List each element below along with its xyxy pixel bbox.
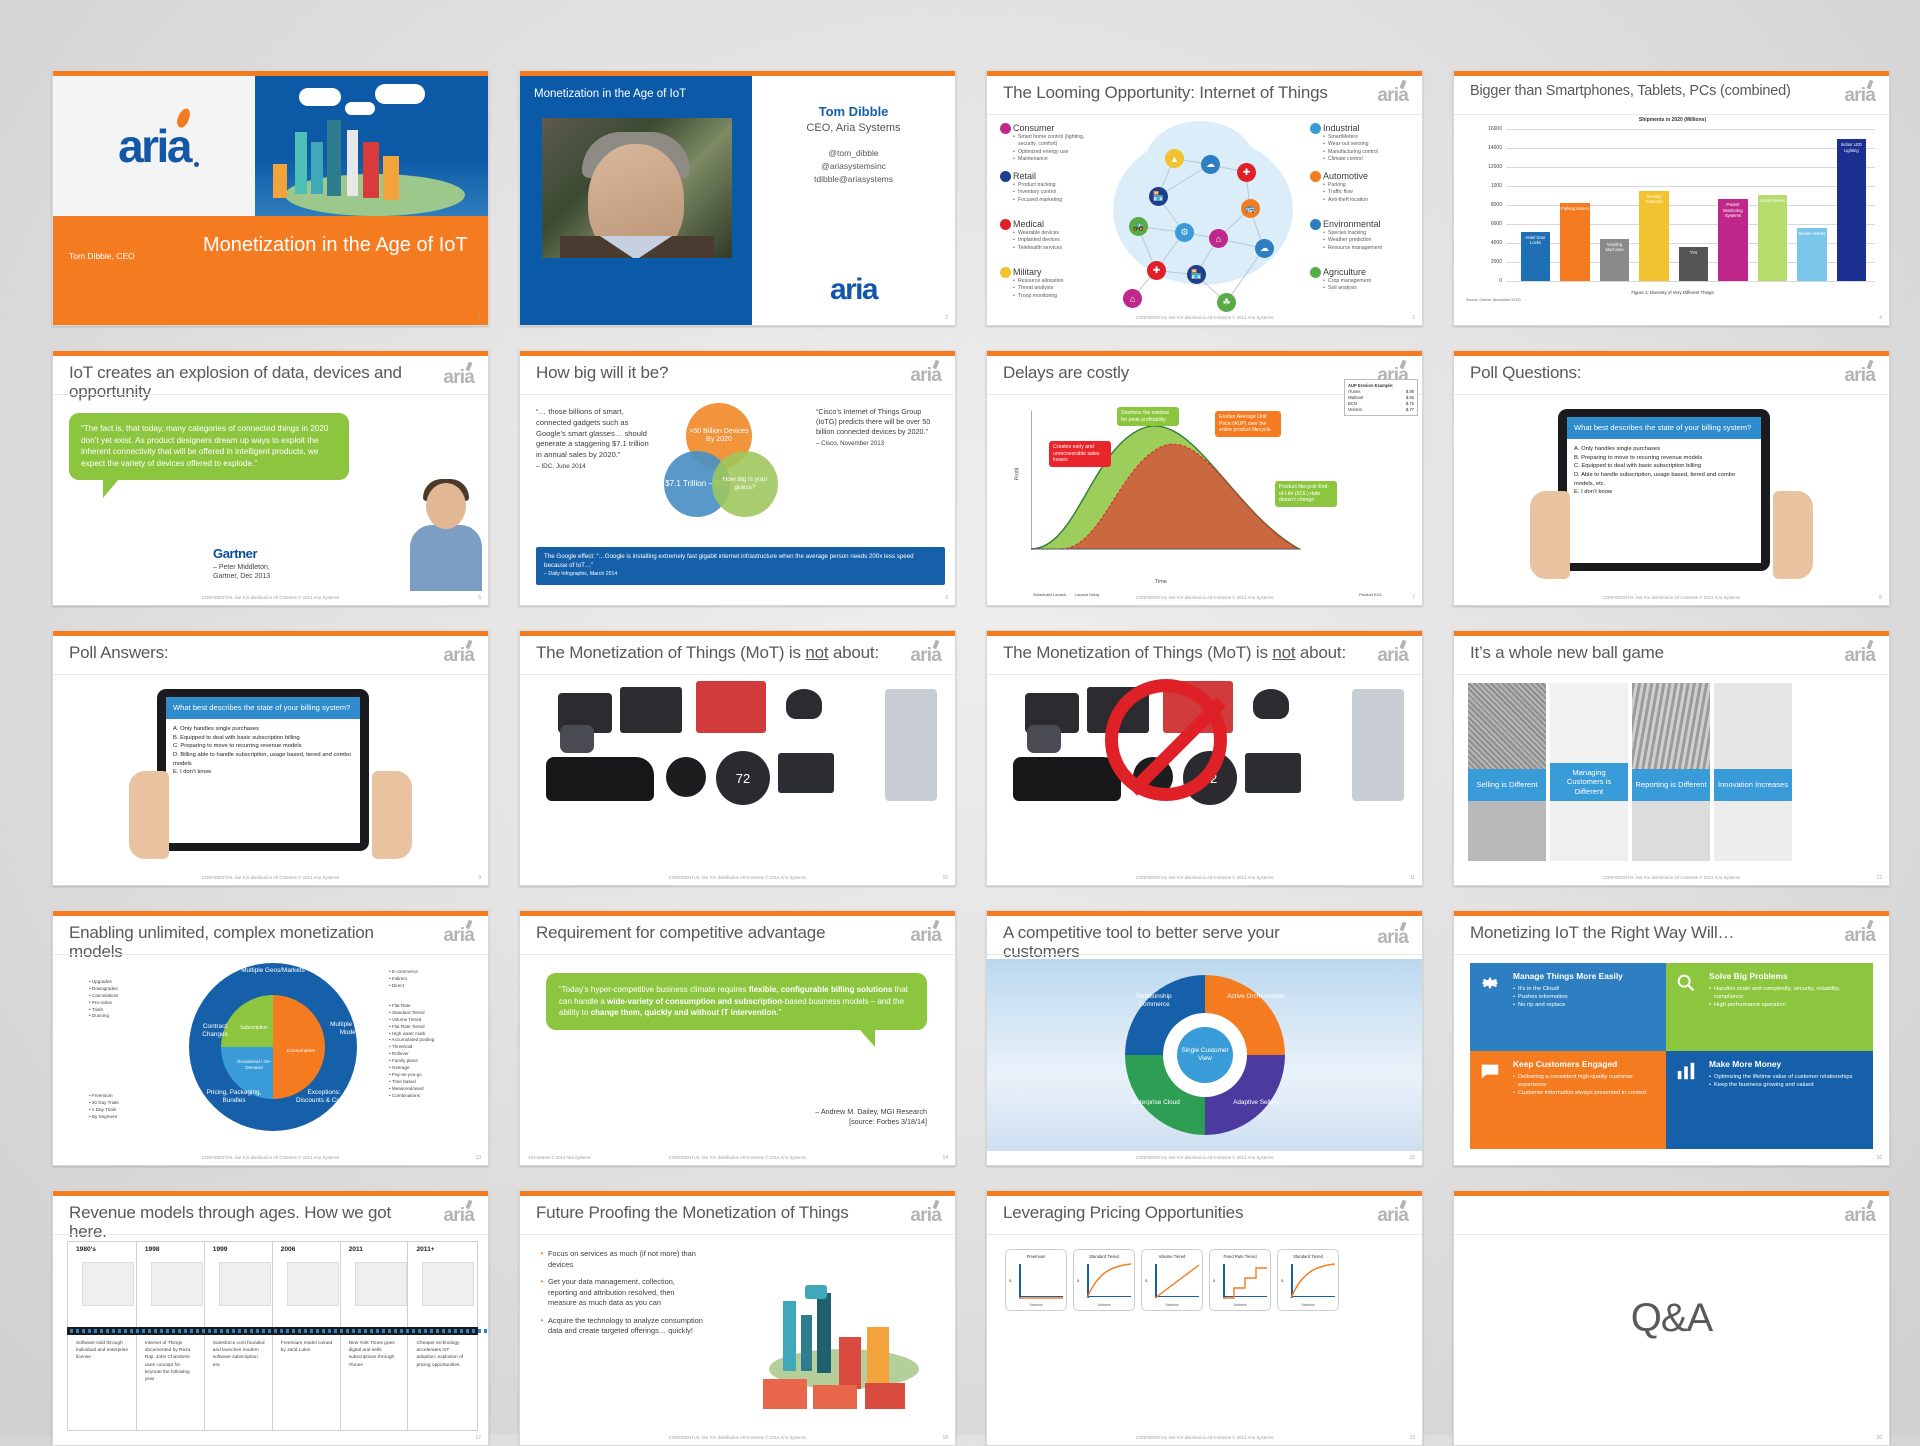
timeline-dash xyxy=(478,1329,481,1333)
category-item: Telehealth services xyxy=(1013,245,1089,252)
category-item: SmartMeters xyxy=(1323,134,1415,141)
banner-text: The Google effect: “…Google is installin… xyxy=(544,553,914,569)
poll-option[interactable]: B. Equipped to deal with basic subscript… xyxy=(173,734,353,743)
slide-thumbnail-15[interactable]: A competitive tool to better serve your … xyxy=(986,910,1423,1166)
slide-thumbnail-5[interactable]: IoT creates an explosion of data, device… xyxy=(52,350,489,606)
poll-option[interactable]: A. Only handles single purchases xyxy=(1574,445,1754,454)
x-axis-label: Volume xyxy=(1278,1302,1338,1307)
timeline-column: 1998Internet of Things documented by Rez… xyxy=(136,1242,204,1430)
tile-selling: Selling is Different xyxy=(1468,769,1546,801)
bullet-item: Focus on services as much (if not more) … xyxy=(540,1249,704,1270)
slide-thumbnail-20[interactable]: aria Q&A 20 xyxy=(1453,1190,1890,1446)
page-number: 13 xyxy=(475,1155,481,1161)
accent-bar xyxy=(53,911,488,916)
person-photo xyxy=(410,479,482,591)
list-item: Rollover xyxy=(389,1051,461,1058)
slide-thumbnail-4[interactable]: Bigger than Smartphones, Tablets, PCs (c… xyxy=(1453,70,1890,326)
aup-row: Verizon$.77 xyxy=(1348,407,1414,413)
timeline-dash xyxy=(268,1329,271,1333)
timeline-dash xyxy=(250,1329,253,1333)
slide-title: Future Proofing the Monetization of Thin… xyxy=(536,1203,885,1222)
cisco-quote-cite: – Cisco, November 2013 xyxy=(816,440,884,447)
slide-title: Leveraging Pricing Opportunities xyxy=(1003,1203,1352,1222)
google-effect-banner: The Google effect: “…Google is installin… xyxy=(536,547,945,585)
timeline-dash xyxy=(484,1329,487,1333)
aup-vendor: Verizon xyxy=(1348,407,1362,413)
bar-label: Parking Meters xyxy=(1560,206,1590,211)
pricing-chart-standard-tiered: Standard Tiered$Volume xyxy=(1277,1249,1339,1311)
timeline-dash xyxy=(190,1329,193,1333)
slide-title: Monetization in the Age of IoT xyxy=(534,88,686,100)
timeline-dash xyxy=(208,1329,211,1333)
medical-icon xyxy=(1000,219,1011,230)
timeline-dash xyxy=(340,1329,343,1333)
timeline-dash xyxy=(118,1329,121,1333)
category-label: Medical xyxy=(1013,219,1089,229)
slide-thumbnail-7[interactable]: Delays are costly aria Profit Time Short… xyxy=(986,350,1423,606)
gridline: 0 xyxy=(1506,281,1875,282)
list-item: Time based xyxy=(389,1079,461,1086)
confidential-footer: CONFIDENTIAL Not For distribution All Co… xyxy=(987,315,1422,320)
bar-hotel-door-locks: Hotel Door Locks xyxy=(1521,232,1551,281)
timeline-text: Cheaper technology accelerates IoT adopt… xyxy=(416,1340,469,1369)
poll-option[interactable]: C. Preparing to move to recurring revenu… xyxy=(173,742,353,751)
timeline-dash xyxy=(448,1329,451,1333)
list-sales-channels: E-commerceIndirectDirect xyxy=(389,969,455,990)
page-number: 5 xyxy=(478,595,481,601)
node-home2-icon: ⌂ xyxy=(1123,289,1142,308)
timeline-text: Salesforce.com founded and launches mode… xyxy=(213,1340,266,1369)
quote-text: “Today’s hyper-competitive business clim… xyxy=(559,985,908,1017)
page-number: 1 xyxy=(478,315,481,321)
category-item: Climate control xyxy=(1323,156,1415,163)
confidential-footer: CONFIDENTIAL Not For distribution All Co… xyxy=(987,875,1422,880)
tile-innovation: Innovation Increases xyxy=(1714,769,1792,801)
category-item: Parking xyxy=(1323,182,1415,189)
category-item: Traffic flow xyxy=(1323,189,1415,196)
poll-option[interactable]: C. Equipped to deal with basic subscript… xyxy=(1574,462,1754,471)
x-axis-label: Volume xyxy=(1210,1302,1270,1307)
slide-thumbnail-10[interactable]: The Monetization of Things (MoT) is not … xyxy=(519,630,956,886)
crowd-photo xyxy=(1468,683,1546,769)
list-item: Upgrades xyxy=(89,979,155,986)
timeline-dash xyxy=(394,1329,397,1333)
slide-thumbnail-8[interactable]: Poll Questions: aria What best describes… xyxy=(1453,350,1890,606)
slide-title: The Monetization of Things (MoT) is not … xyxy=(536,643,885,662)
suv-device xyxy=(546,757,654,801)
quadrant-item: No rip and replace xyxy=(1513,1001,1657,1009)
poll-option[interactable]: D. Billing able to handle subscription, … xyxy=(173,751,353,768)
accent-bar xyxy=(53,351,488,356)
timeline-dash xyxy=(82,1329,85,1333)
slide-thumbnail-13[interactable]: Enabling unlimited, complex monetization… xyxy=(52,910,489,1166)
accent-bar xyxy=(987,911,1422,916)
timeline-dash xyxy=(382,1329,385,1333)
node-home-icon: ⌂ xyxy=(1209,229,1228,248)
list-item: Standard Tiered xyxy=(389,1010,461,1017)
title-emphasis: not xyxy=(1272,643,1295,662)
list-item: Dunning xyxy=(89,1013,155,1020)
page-number: 4 xyxy=(1879,315,1882,321)
slide-title: It’s a whole new ball game xyxy=(1470,643,1819,662)
quote-emphasis: change them, quickly and without IT inte… xyxy=(591,1008,779,1017)
list-item: Freemium xyxy=(89,1093,155,1100)
node-store-icon: 🏪 xyxy=(1149,187,1168,206)
quadrant-item: Handles scale and complexity, security, … xyxy=(1709,985,1864,1001)
title-pre: The Monetization of Things (MoT) is xyxy=(536,643,805,662)
page-number: 17 xyxy=(475,1435,481,1441)
slide-thumbnail-16[interactable]: Monetizing IoT the Right Way Will… aria … xyxy=(1453,910,1890,1166)
aria-logo: aria xyxy=(1844,85,1875,107)
y-axis-tick: 8000 xyxy=(1491,202,1502,208)
node-cloud2-icon: ☁ xyxy=(1255,239,1274,258)
company-handle: @ariasystemsinc xyxy=(752,161,955,171)
slide-thumbnail-3[interactable]: The Looming Opportunity: Internet of Thi… xyxy=(986,70,1423,326)
slide-title: IoT creates an explosion of data, device… xyxy=(69,363,418,401)
list-item: Direct xyxy=(389,983,455,990)
quadrant-solve-problems: Solve Big Problems Handles scale and com… xyxy=(1666,963,1873,1051)
poll-option[interactable]: D. Able to handle subscription, usage ba… xyxy=(1574,471,1754,488)
slide-thumbnail-17[interactable]: Revenue models through ages. How we got … xyxy=(52,1190,489,1446)
aria-wordmark: aria xyxy=(118,119,190,173)
quote-fragment: ” xyxy=(779,1008,782,1017)
iot-network-diagram: ☁ 🏪 🚌 ⚙ ⌂ ✚ ▲ 🚜 ☁ ✚ 🏪 ⌂ ☘ xyxy=(1105,121,1300,316)
accent-bar xyxy=(1454,351,1889,356)
retail-icon xyxy=(1000,171,1011,182)
category-label: Consumer xyxy=(1013,123,1089,133)
node-medical2-icon: ✚ xyxy=(1147,261,1166,280)
y-axis-label: $ xyxy=(1009,1278,1011,1283)
slide-title: Delays are costly xyxy=(1003,363,1352,382)
refrigerator-device xyxy=(885,689,937,801)
bar-vending-machines: Vending Machines xyxy=(1600,239,1630,281)
bar-smart-meters: Smart Meters xyxy=(1758,195,1788,281)
bar-label: TVs xyxy=(1679,250,1709,255)
timeline-dash xyxy=(316,1329,319,1333)
wheel-subscription: Subscription xyxy=(231,1025,277,1031)
segment-enterprise-cloud: Enterprise Cloud xyxy=(1127,1099,1185,1107)
list-item: Family plans xyxy=(389,1058,461,1065)
laptop2-device xyxy=(778,753,834,793)
poll-option[interactable]: B. Preparing to move to recurring revenu… xyxy=(1574,454,1754,463)
timeline-columns: 1980’sSoftware sold through individual a… xyxy=(67,1241,478,1431)
slide-thumbnail-9[interactable]: Poll Answers: aria What best describes t… xyxy=(52,630,489,886)
slide-thumbnail-2[interactable]: Monetization in the Age of IoT Tom Dibbl… xyxy=(519,70,956,326)
timeline-dash xyxy=(418,1329,421,1333)
page-number: 18 xyxy=(942,1435,948,1441)
timeline-dash xyxy=(172,1329,175,1333)
list-contract-changes: UpgradesDowngradesCancelationsPro-ration… xyxy=(89,979,155,1020)
slide-grid: aria Tom Dibble, CEO Monetization in the… xyxy=(52,70,1872,1370)
quadrant-item: Customer information always presented in… xyxy=(1513,1089,1657,1097)
aria-logo: aria xyxy=(443,645,474,667)
list-item: Accumulated pooling xyxy=(389,1037,461,1044)
accent-bar xyxy=(520,1191,955,1196)
timeline-dash xyxy=(130,1329,133,1333)
category-agriculture: AgricultureCrop managementSoil analysis xyxy=(1323,267,1415,293)
qa-text: Q&A xyxy=(1454,1191,1889,1445)
timeline-column: 2011+Cheaper technology accelerates IoT … xyxy=(407,1242,475,1430)
timeline-thumbnail xyxy=(355,1262,407,1306)
x-axis-label: Volume xyxy=(1074,1302,1134,1307)
timeline-thumbnail xyxy=(151,1262,203,1306)
category-item: Resource allocation xyxy=(1013,278,1089,285)
slide-title: The Looming Opportunity: Internet of Thi… xyxy=(1003,83,1352,102)
bulb2-photo xyxy=(1714,801,1792,861)
category-environmental: EnvironmentalSpecies trackingWeather pre… xyxy=(1323,219,1415,252)
accent-bar xyxy=(987,71,1422,76)
title-band: Tom Dibble, CEO Monetization in the Age … xyxy=(53,216,488,325)
list-item: 30 Day Trials xyxy=(89,1100,155,1107)
timeline-thumbnail xyxy=(219,1262,271,1306)
title-post: about: xyxy=(828,643,879,662)
confidential-footer: CONFIDENTIAL Not For distribution All Co… xyxy=(53,875,488,880)
timeline-text: New York Times goes digital and sells su… xyxy=(349,1340,402,1369)
title-post: about: xyxy=(1295,643,1346,662)
aria-logo: aria xyxy=(1377,85,1408,107)
node-medical-icon: ✚ xyxy=(1237,163,1256,182)
timeline-dash xyxy=(286,1329,289,1333)
cisco-quote-text: “Cisco’s Internet of Things Group (IoTG)… xyxy=(816,407,930,436)
category-item: Resource management xyxy=(1323,245,1415,252)
timeline-dash xyxy=(442,1329,445,1333)
y-axis-label: $ xyxy=(1213,1278,1215,1283)
node-meter-icon: ⚙ xyxy=(1175,223,1194,242)
accent-bar xyxy=(987,631,1422,636)
timeline-dash xyxy=(346,1329,349,1333)
accent-bar xyxy=(1454,71,1889,76)
accent-bar xyxy=(53,1191,488,1196)
pricing-chart-standard-tiered: Standard Tiered$Volume xyxy=(1073,1249,1135,1311)
timeline-bar xyxy=(67,1327,478,1335)
slide-title: A competitive tool to better serve your … xyxy=(1003,923,1352,961)
timeline-dash xyxy=(292,1329,295,1333)
aria-logo: aria xyxy=(443,1205,474,1227)
page-number: 12 xyxy=(1876,875,1882,881)
timeline-dash xyxy=(454,1329,457,1333)
wheel-geos: Multiple Geos/Markets xyxy=(239,967,307,975)
category-item: Crop management xyxy=(1323,278,1415,285)
node-store2-icon: 🏪 xyxy=(1187,265,1206,284)
list-item: Pay-as-you-go xyxy=(389,1072,461,1079)
category-label: Environmental xyxy=(1323,219,1415,229)
page-number: 15 xyxy=(1409,1155,1415,1161)
aup-price: $.77 xyxy=(1406,407,1414,413)
handshake-photo xyxy=(1468,801,1546,861)
y-axis-tick: 14000 xyxy=(1488,145,1502,151)
quote-fragment: “Today’s hyper-competitive business clim… xyxy=(559,985,749,994)
building-photo xyxy=(1632,683,1710,769)
monitor-device xyxy=(696,681,766,733)
category-item: Troop monitoring xyxy=(1013,293,1089,300)
node-bus-icon: 🚌 xyxy=(1241,199,1260,218)
speaker-photo xyxy=(542,118,732,258)
timeline-dash xyxy=(100,1329,103,1333)
timeline-dash xyxy=(304,1329,307,1333)
bar-security-cameras: Security Cameras xyxy=(1639,191,1669,281)
list-item: n Day Trials xyxy=(89,1107,155,1114)
timeline-dash xyxy=(274,1329,277,1333)
automotive-icon xyxy=(1310,171,1321,182)
node-leaf-icon: ☘ xyxy=(1217,293,1236,312)
wheel-occasional: Occasional / On-Demand xyxy=(231,1059,277,1070)
pricing-chart-freemium: Freemium$Volume xyxy=(1005,1249,1067,1311)
tablet-screen: What best describes the state of your bi… xyxy=(166,697,360,843)
tile-managing: Managing Customers is Different xyxy=(1550,763,1628,801)
left-hand xyxy=(1530,491,1570,579)
left-hand xyxy=(129,771,169,859)
future-proofing-bullets: Focus on services as much (if not more) … xyxy=(540,1249,704,1344)
tag-sales-losses: Creates early and unrecoverable sales lo… xyxy=(1049,441,1111,467)
wheel-consumption: Consumption xyxy=(277,1049,325,1055)
timeline-dash xyxy=(94,1329,97,1333)
iot-city-illustration xyxy=(255,76,488,216)
timeline-dash xyxy=(310,1329,313,1333)
list-item: Trials xyxy=(89,1007,155,1014)
category-label: Military xyxy=(1013,267,1089,277)
bar-label: Indoor LED Lighting xyxy=(1837,142,1867,153)
list-item: Combinations xyxy=(389,1093,461,1100)
aria-logo: aria xyxy=(1377,645,1408,667)
slide-title: Monetizing IoT the Right Way Will… xyxy=(1470,923,1819,942)
chart-caption: Figure 1: Diversity of Very Different Th… xyxy=(1464,290,1881,295)
list-item: By Segment xyxy=(89,1114,155,1121)
category-retail: RetailProduct trackingInventory controlF… xyxy=(1013,171,1089,204)
quadrant-title: Manage Things More Easily xyxy=(1513,971,1657,981)
bar-patient-monitoring-systems: Patient Monitoring Systems xyxy=(1718,199,1748,281)
quadrant-title: Solve Big Problems xyxy=(1709,971,1864,981)
speaker-photo-panel: Monetization in the Age of IoT xyxy=(520,76,752,325)
quote-attribution: – Andrew M. Dailey, MGI Research [source… xyxy=(767,1107,927,1127)
wheel-inner xyxy=(221,995,325,1099)
consumer-icon xyxy=(1000,123,1011,134)
y-axis-label: $ xyxy=(1281,1278,1283,1283)
category-label: Agriculture xyxy=(1323,267,1415,277)
bullet-item: Acquire the technology to analyze consum… xyxy=(540,1316,704,1337)
tile-reporting: Reporting is Different xyxy=(1632,769,1710,801)
quadrant-item: High performance operation xyxy=(1709,1001,1864,1009)
timeline-dash xyxy=(202,1329,205,1333)
timeline-dash xyxy=(214,1329,217,1333)
poll-option[interactable]: A. Only handles single purchases xyxy=(173,725,353,734)
banner-cite: – Daily Infographic, March 2014 xyxy=(544,571,617,577)
timeline-dash xyxy=(244,1329,247,1333)
aria-logo: aria xyxy=(1844,645,1875,667)
y-axis-tick: 12000 xyxy=(1488,164,1502,170)
segment-adaptive-selling: Adaptive Selling xyxy=(1227,1099,1285,1107)
list-pricing-models: Flat RateStandard TieredVolume TieredFla… xyxy=(389,1003,461,1099)
aria-logo: aria xyxy=(910,365,941,387)
category-label: Industrial xyxy=(1323,123,1415,133)
timeline-dash xyxy=(430,1329,433,1333)
tag-aup-erosion: Erodes Average Unit Price (AUP) over the… xyxy=(1215,411,1281,437)
x-axis-label: Volume xyxy=(1006,1302,1066,1307)
bullet-item: Get your data management, collection, re… xyxy=(540,1277,704,1309)
smartwatch-device xyxy=(1027,725,1061,753)
slide-title: Bigger than Smartphones, Tablets, PCs (c… xyxy=(1470,83,1819,99)
magnifier-icon xyxy=(1675,972,1697,994)
timeline-thumbnail xyxy=(82,1262,134,1306)
timeline-dash xyxy=(328,1329,331,1333)
category-automotive: AutomotiveParkingTraffic flowAnti-theft … xyxy=(1323,171,1415,204)
category-label: Automotive xyxy=(1323,171,1415,181)
aria-logo: aria xyxy=(910,1205,941,1227)
camera-device xyxy=(786,689,822,719)
slide-thumbnail-11[interactable]: The Monetization of Things (MoT) is not … xyxy=(986,630,1423,886)
category-item: Wearable devices xyxy=(1013,230,1089,237)
speaker-info-panel: Tom Dibble CEO, Aria Systems @tom_dibble… xyxy=(752,76,955,325)
category-item: Focused marketing xyxy=(1013,197,1089,204)
y-axis-tick: 4000 xyxy=(1491,240,1502,246)
timeline-dash xyxy=(106,1329,109,1333)
aria-logo: aria xyxy=(1844,925,1875,947)
timeline-dash xyxy=(136,1329,139,1333)
speech-icon xyxy=(1479,1060,1501,1082)
page-number: 16 xyxy=(1876,1155,1882,1161)
bulbs-photo xyxy=(1714,683,1792,769)
tag-eol-date: Product lifecycle End-of-Life (EOL) date… xyxy=(1275,481,1337,507)
quadrant-title: Make More Money xyxy=(1709,1059,1864,1069)
accent-bar xyxy=(520,631,955,636)
timeline-dash xyxy=(364,1329,367,1333)
list-item: Downgrades xyxy=(89,986,155,993)
accent-bar xyxy=(987,351,1422,356)
timeline-dash xyxy=(88,1329,91,1333)
slide-thumbnail-14[interactable]: Requirement for competitive advantage ar… xyxy=(519,910,956,1166)
slide-thumbnail-18[interactable]: Future Proofing the Monetization of Thin… xyxy=(519,1190,956,1446)
x-axis-label: Volume xyxy=(1142,1302,1202,1307)
tire-device xyxy=(666,757,706,797)
poll-option[interactable]: E. I don’t know xyxy=(1574,488,1754,497)
timeline-dash xyxy=(436,1329,439,1333)
category-item: Wear-out sensing xyxy=(1323,141,1415,148)
slide-title: Enabling unlimited, complex monetization… xyxy=(69,923,418,961)
quadrant-item: Delivering a consistent high-quality cus… xyxy=(1513,1073,1657,1089)
timeline-column: 2006Freemium model coined by Jarid Lukin xyxy=(272,1242,340,1430)
gridline: 14000 xyxy=(1506,148,1875,149)
page-number: 11 xyxy=(1410,875,1415,881)
laptop-device xyxy=(620,687,682,733)
quote-emphasis: flexible, configurable billing solutions xyxy=(749,985,893,994)
charts-photo xyxy=(1550,801,1628,861)
idc-quote: “… those billions of smart, connected ga… xyxy=(536,407,656,472)
category-item: Weather prediction xyxy=(1323,237,1415,244)
timeline-thumbnail xyxy=(422,1262,474,1306)
slide-thumbnail-12[interactable]: It’s a whole new ball game aria Selling … xyxy=(1453,630,1890,886)
chart-source: Source: Gartner (November 2013) xyxy=(1466,298,1521,302)
quote-attribution: – Peter Middleton, Gartner, Dec 2013 xyxy=(213,563,270,582)
bar-tvs: TVs xyxy=(1679,247,1709,281)
aup-erosion-table: AUP Erosion Example: iTunes$.99Walmart$.… xyxy=(1344,379,1418,416)
bar-label: Smart Meters xyxy=(1758,198,1788,203)
slide-thumbnail-6[interactable]: How big will it be? aria “… those billio… xyxy=(519,350,956,606)
accent-bar xyxy=(520,351,955,356)
bar-indoor-led-lighting: Indoor LED Lighting xyxy=(1837,139,1867,281)
mgi-quote-bubble: “Today’s hyper-competitive business clim… xyxy=(546,973,927,1030)
aria-logo: aria xyxy=(443,367,474,389)
page-number: 10 xyxy=(942,875,948,881)
laptop2-device xyxy=(1245,753,1301,793)
bar-label: Security Cameras xyxy=(1639,194,1669,205)
slide-thumbnail-19[interactable]: Leveraging Pricing Opportunities aria Fr… xyxy=(986,1190,1423,1446)
slide-thumbnail-1[interactable]: aria Tom Dibble, CEO Monetization in the… xyxy=(52,70,489,326)
wheel-pricing: Pricing, Packaging, Bundles xyxy=(205,1089,263,1105)
poll-option[interactable]: E. I don’t know xyxy=(173,768,353,777)
refrigerator-device xyxy=(1352,689,1404,801)
tablet-screen: What best describes the state of your bi… xyxy=(1567,417,1761,563)
network-photo xyxy=(1550,683,1628,769)
bar-label: Hotel Door Locks xyxy=(1521,235,1551,246)
